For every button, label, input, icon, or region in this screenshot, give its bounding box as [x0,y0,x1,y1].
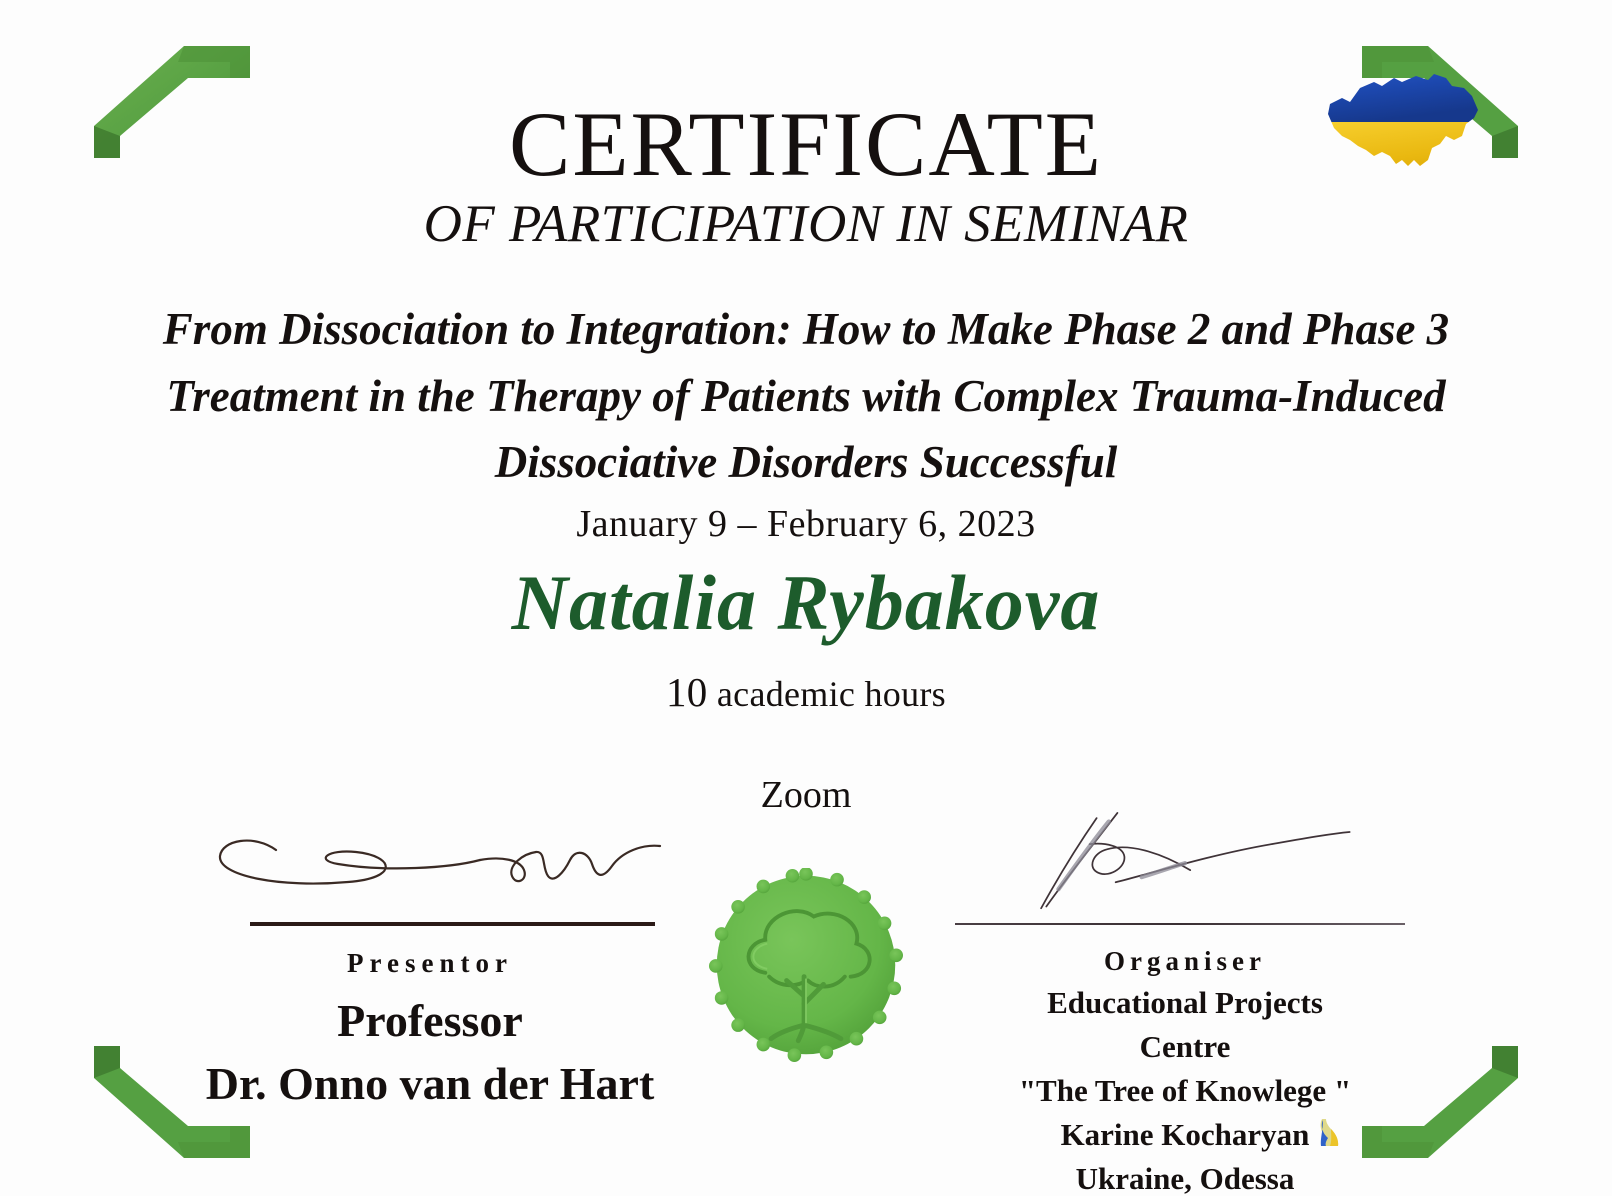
organiser-signature-rule [955,923,1405,925]
certificate-subtitle: OF PARTICIPATION IN SEMINAR [0,198,1612,251]
presenter-signature-block: Presentor Professor Dr. Onno van der Har… [150,790,710,1116]
seminar-title-line-1: From Dissociation to Integration: How to… [120,296,1492,363]
organiser-person-name: Karine Kocharyan [1061,1117,1310,1152]
organiser-signature-icon [955,780,1415,910]
organiser-line-2: Centre [955,1025,1415,1069]
academic-hours-label: academic hours [708,674,946,714]
organiser-line-1: Educational Projects [955,981,1415,1025]
seminar-date-range: January 9 – February 6, 2023 [0,502,1612,546]
seminar-title: From Dissociation to Integration: How to… [120,296,1492,496]
certificate-page: CERTIFICATE OF PARTICIPATION IN SEMINAR … [0,0,1612,1196]
seminar-title-line-3: Dissociative Disorders Successful [120,429,1492,496]
organiser-line-3: "The Tree of Knowlege " [955,1069,1415,1113]
academic-hours: 10 academic hours [0,668,1612,716]
presenter-title-line: Professor [150,989,710,1052]
organiser-location-line: Ukraine, Odessa [955,1157,1415,1196]
organiser-name: Educational Projects Centre "The Tree of… [955,981,1415,1196]
recipient-name: Natalia Rybakova [0,556,1612,650]
ukraine-flag-icon [1317,1117,1343,1147]
organiser-role-label: Organiser [955,946,1415,977]
organiser-line-4: Karine Kocharyan [955,1113,1415,1157]
presenter-name-line: Dr. Onno van der Hart [150,1052,710,1115]
presenter-signature-icon [150,790,710,920]
academic-hours-number: 10 [666,669,708,715]
green-tree-seal-icon [709,868,903,1062]
presenter-signature-rule [250,922,655,926]
organiser-signature-block: Organiser Educational Projects Centre "T… [955,780,1415,1196]
presenter-role-label: Presentor [150,948,710,979]
presenter-name: Professor Dr. Onno van der Hart [150,989,710,1116]
seminar-title-line-2: Treatment in the Therapy of Patients wit… [120,363,1492,430]
certificate-title: CERTIFICATE [0,98,1612,190]
